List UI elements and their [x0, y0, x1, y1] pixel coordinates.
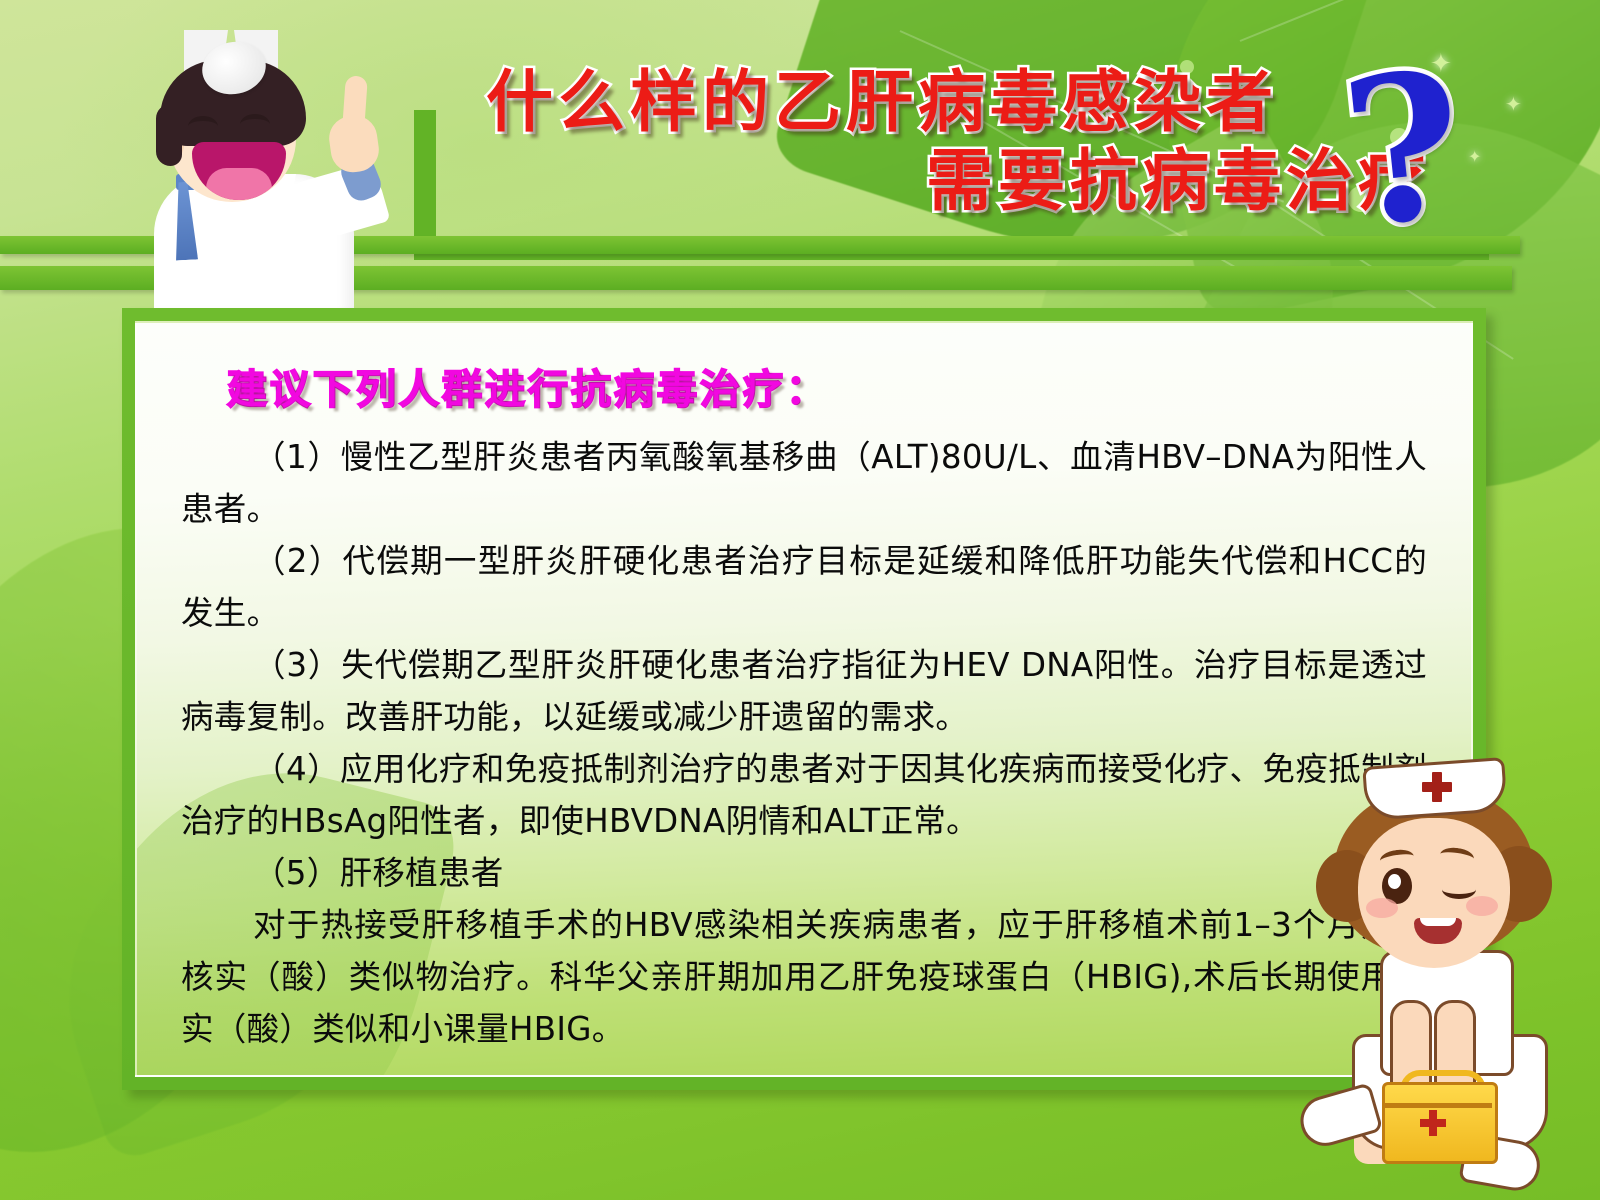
doctor-illustration: [130, 24, 380, 314]
list-item: （4）应用化疗和免疫抵制剂治疗的患者对于因其化疾病而接受化疗、免疫抵制剂治疗的H…: [181, 743, 1427, 847]
title-line-2: 需要抗病毒治疗: [430, 141, 1440, 220]
poster-title: 什么样的乙肝病毒感染者 需要抗病毒治疗: [430, 62, 1440, 220]
nurse-eye-winking: [1442, 880, 1476, 899]
content-panel: 建议下列人群进行抗病毒治疗： （1）慢性乙型肝炎患者丙氧酸氧基移曲（ALT)80…: [122, 308, 1486, 1090]
red-cross-icon: [1422, 772, 1452, 802]
list-item: （1）慢性乙型肝炎患者丙氧酸氧基移曲（ALT)80U/L、血清HBV–DNA为阳…: [181, 431, 1427, 535]
doctor-eye-left: [188, 116, 218, 137]
list-item-detail: 对于热接受肝移植手术的HBV感染相关疾病患者，应于肝移植术前1–3个月开始核实（…: [181, 899, 1427, 1055]
red-cross-icon: [1420, 1110, 1446, 1136]
nurse-face: [1358, 818, 1510, 968]
body-text-block: （1）慢性乙型肝炎患者丙氧酸氧基移曲（ALT)80U/L、血清HBV–DNA为阳…: [181, 431, 1427, 1055]
section-heading: 建议下列人群进行抗病毒治疗：: [227, 357, 1427, 415]
question-mark-glyph: ?: [1337, 53, 1534, 241]
list-item: （3）失代偿期乙型肝炎肝硬化患者治疗指征为HEV DNA阳性。治疗目标是透过病毒…: [181, 639, 1427, 743]
list-item: （2）代偿期一型肝炎肝硬化患者治疗目标是延缓和降低肝功能失代偿和HCC的发生。: [181, 535, 1427, 639]
doctor-eye-right: [240, 114, 270, 135]
nurse-cheek-right: [1466, 896, 1498, 916]
title-line-1: 什么样的乙肝病毒感染者: [486, 62, 1440, 141]
list-item: （5）肝移植患者: [181, 847, 1427, 899]
nurse-cheek-left: [1366, 898, 1398, 918]
doctor-pointing-finger: [342, 75, 368, 130]
poster-canvas: ✦ ✦ ✦ 什么样的乙肝病毒感染者 需要抗病毒治疗 ?: [0, 0, 1600, 1200]
content-panel-inner: 建议下列人群进行抗病毒治疗： （1）慢性乙型肝炎患者丙氧酸氧基移曲（ALT)80…: [135, 321, 1473, 1077]
doctor-tongue: [206, 168, 272, 200]
question-mark-icon: ?: [1345, 62, 1525, 252]
